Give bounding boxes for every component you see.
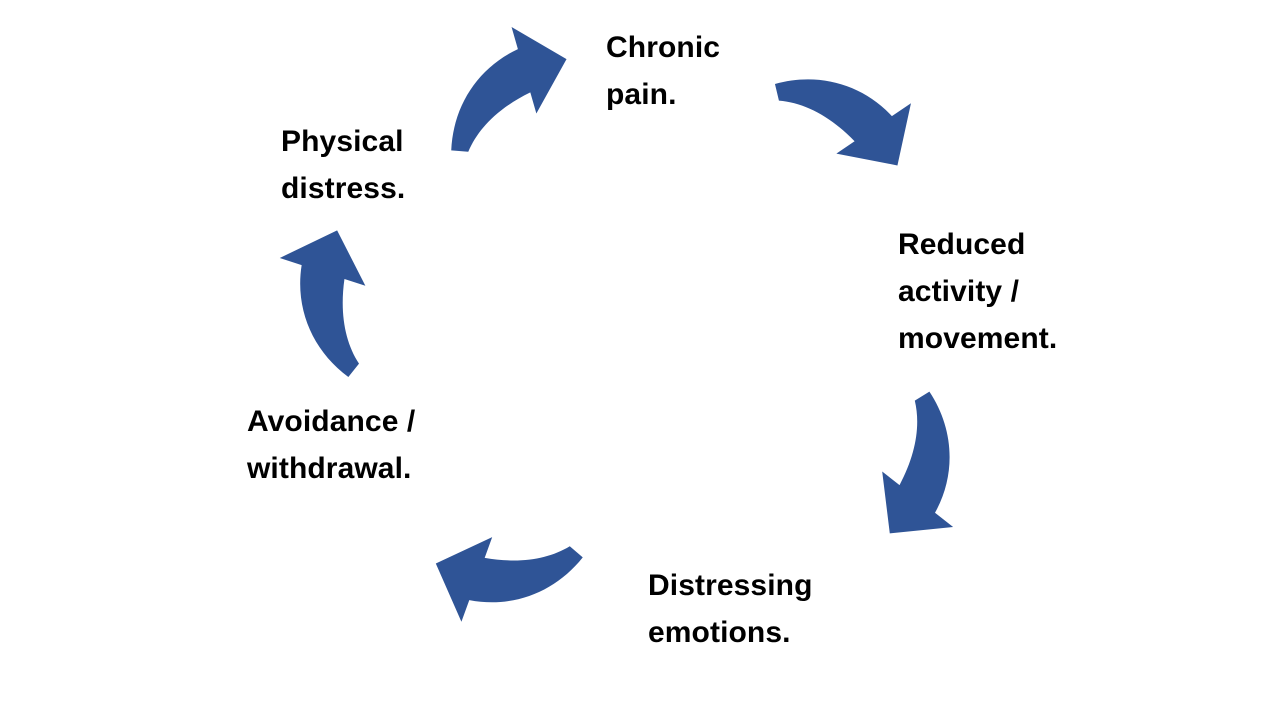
node-label-distressing-emotions: Distressing emotions. xyxy=(648,562,898,656)
node-label-reduced-activity: Reduced activity / movement. xyxy=(898,221,1148,362)
curved-arrow-icon-avoidance-to-physical xyxy=(251,216,396,379)
curved-arrow-icon-reduced-to-distressing xyxy=(841,388,1010,562)
diagram-canvas: Chronic pain. Reduced activity / movemen… xyxy=(0,0,1280,720)
node-label-avoidance-withdrawal: Avoidance / withdrawal. xyxy=(247,398,507,492)
curved-arrow-icon-distressing-to-avoidance xyxy=(420,505,585,653)
node-label-physical-distress: Physical distress. xyxy=(281,118,501,212)
node-label-chronic-pain: Chronic pain. xyxy=(606,24,836,118)
